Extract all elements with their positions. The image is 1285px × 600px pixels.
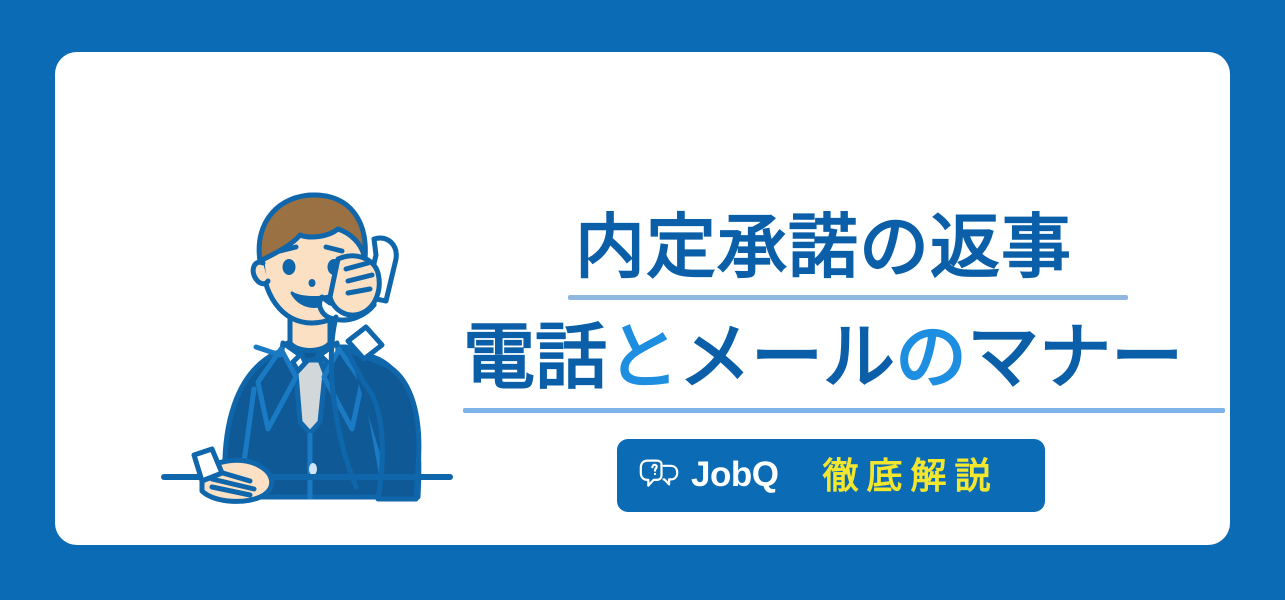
jobq-wordmark: JobQ: [691, 457, 778, 495]
title-segment-mail: メール: [679, 318, 895, 398]
headline-block: 内定承諾の返事 電話とメールのマナー: [455, 192, 1255, 532]
businessman-on-phone-illustration: [150, 177, 470, 517]
banner: 内定承諾の返事 電話とメールのマナー: [0, 0, 1285, 600]
content-card: 内定承諾の返事 電話とメールのマナー: [55, 52, 1230, 545]
title-segment-no: の: [895, 318, 967, 398]
speech-bubble-question-icon: [639, 459, 685, 493]
jobq-logo: JobQ: [639, 457, 778, 495]
title-segment-to: と: [607, 318, 679, 398]
divider-line-1: [568, 295, 1128, 300]
businessman-illustration-svg: [150, 177, 470, 517]
page-title-line-2: 電話とメールのマナー: [463, 316, 1183, 400]
title-segment-denwa: 電話: [463, 318, 607, 398]
divider-line-2: [463, 408, 1225, 413]
title-segment-manner: マナー: [967, 318, 1183, 398]
jobq-badge[interactable]: JobQ 徹底解説: [617, 439, 1045, 512]
badge-caption: 徹底解説: [822, 458, 998, 494]
page-title-line-1: 内定承諾の返事: [575, 208, 1072, 286]
